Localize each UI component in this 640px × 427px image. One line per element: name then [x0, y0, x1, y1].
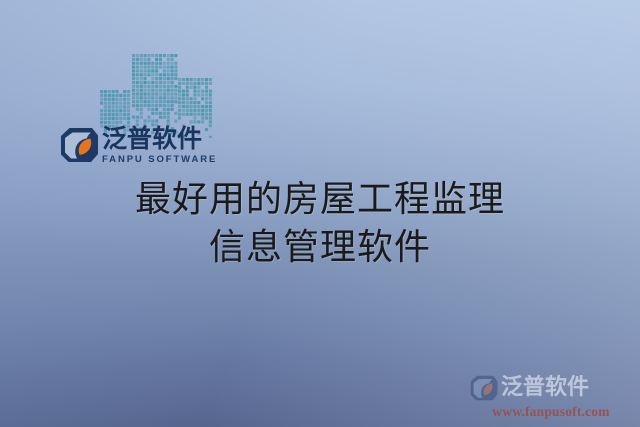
fanpu-hexagon-logo-icon [58, 127, 98, 163]
page-title-line-2: 信息管理软件 [0, 224, 640, 272]
brand-name-en: FANPU SOFTWARE [102, 155, 217, 165]
brand-name-cn: 泛普软件 [102, 126, 217, 151]
watermark-logo-row: 泛普软件 [468, 373, 634, 403]
brand-logo: 泛普软件 FANPU SOFTWARE [58, 126, 218, 174]
fanpu-hexagon-logo-watermark-icon [468, 375, 498, 401]
watermark: 泛普软件 www.fanpusoft.com [468, 373, 634, 421]
page-title: 最好用的房屋工程监理 信息管理软件 [0, 176, 640, 272]
watermark-name-cn: 泛普软件 [501, 377, 589, 399]
brand-wordmark: 泛普软件 FANPU SOFTWARE [102, 126, 217, 165]
page-title-line-1: 最好用的房屋工程监理 [0, 176, 640, 224]
watermark-url: www.fanpusoft.com [468, 404, 634, 420]
promo-banner: 泛普软件 FANPU SOFTWARE 最好用的房屋工程监理 信息管理软件 泛普… [0, 0, 640, 427]
